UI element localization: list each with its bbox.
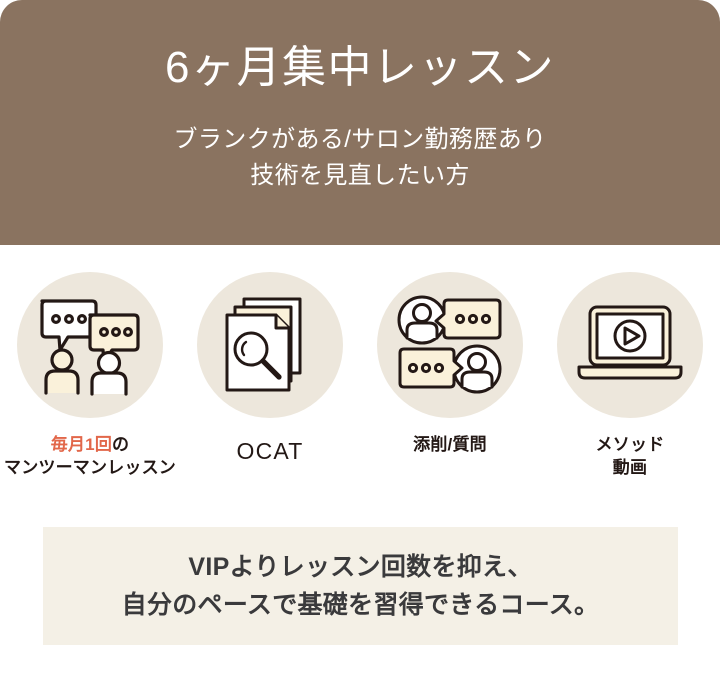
course-summary-text: VIPよりレッスン回数を抑え、 自分のペースで基礎を習得できるコース。 (122, 548, 600, 624)
course-summary-line-2: 自分のペースで基礎を習得できるコース。 (122, 586, 600, 624)
feature-icon-circle (377, 272, 523, 418)
feature-label-line-1: OCAT (237, 436, 304, 467)
laptop-play-video-icon (575, 303, 685, 387)
feature-label: メソッド 動画 (596, 434, 665, 480)
header-subtitle: ブランクがある/サロン勤務歴あり 技術を見直したい方 (173, 122, 546, 193)
course-summary-line-1: VIPよりレッスン回数を抑え、 (122, 548, 600, 586)
card-header: 6ヶ月集中レッスン ブランクがある/サロン勤務歴あり 技術を見直したい方 (0, 0, 720, 245)
feature-item-one-on-one-lesson[interactable]: 毎月1回の マンツーマンレッスン (4, 272, 176, 480)
course-plan-card: 6ヶ月集中レッスン ブランクがある/サロン勤務歴あり 技術を見直したい方 (0, 0, 720, 686)
course-summary-box: VIPよりレッスン回数を抑え、 自分のペースで基礎を習得できるコース。 (43, 527, 678, 645)
feature-item-correction-question[interactable]: 添削/質問 (364, 272, 536, 457)
two-people-chat-icon (34, 293, 146, 397)
feature-label: OCAT (237, 436, 304, 467)
feature-icon-circle (17, 272, 163, 418)
feature-label-line-2: マンツーマンレッスン (4, 457, 176, 480)
feature-label-line-1: メソッド (596, 434, 665, 457)
feature-icon-circle (197, 272, 343, 418)
feature-label-suffix: の (112, 435, 129, 454)
feature-label-highlight: 毎月1回 (51, 435, 112, 454)
feature-icon-circle (557, 272, 703, 418)
documents-magnifier-icon (222, 295, 318, 395)
feature-item-ocat[interactable]: OCAT (184, 272, 356, 467)
feature-label-line-1: 毎月1回の (4, 434, 176, 457)
feature-label: 毎月1回の マンツーマンレッスン (4, 434, 176, 480)
header-subtitle-line-2: 技術を見直したい方 (173, 158, 546, 194)
feature-list: 毎月1回の マンツーマンレッスン (0, 272, 720, 480)
feature-label-line-1: 添削/質問 (413, 434, 487, 457)
header-subtitle-line-1: ブランクがある/サロン勤務歴あり (173, 122, 546, 158)
avatars-speech-bubbles-icon (396, 294, 504, 396)
feature-label: 添削/質問 (413, 434, 487, 457)
feature-item-method-video[interactable]: メソッド 動画 (544, 272, 716, 480)
feature-label-line-2: 動画 (596, 457, 665, 480)
page-title: 6ヶ月集中レッスン (165, 44, 555, 92)
